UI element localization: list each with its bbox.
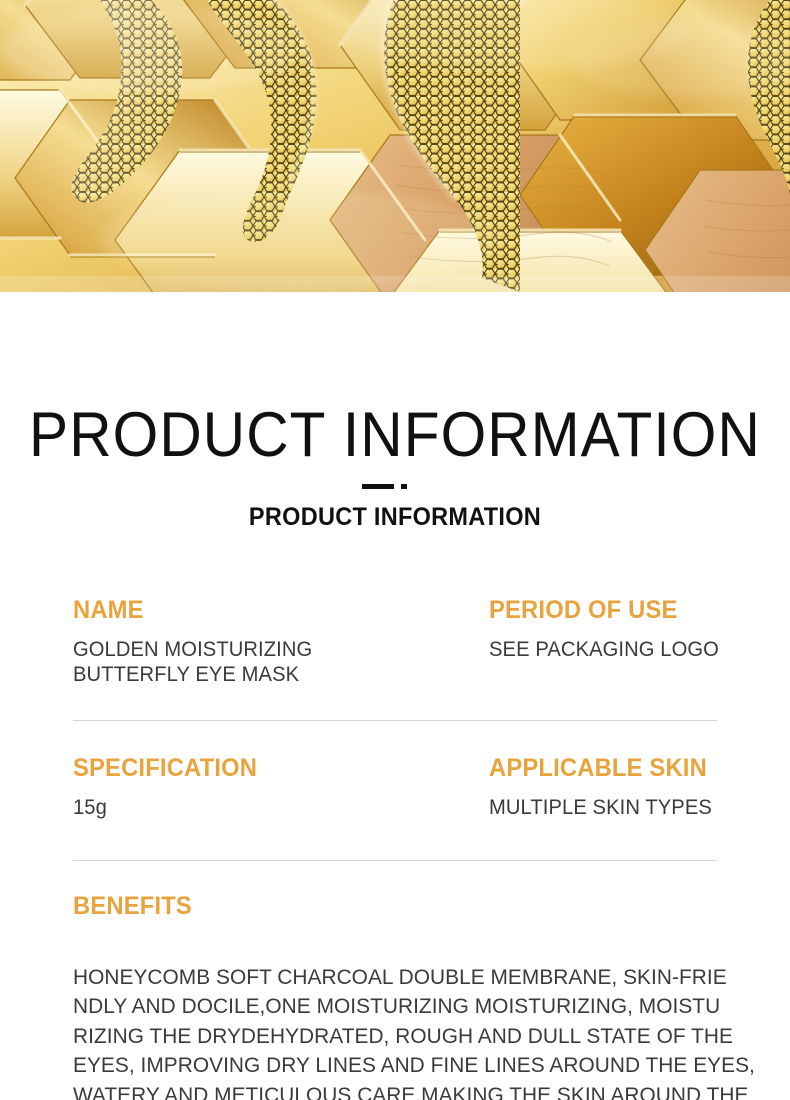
table-row: SPECIFICATION 15g APPLICABLE SKIN MULTIP… [73, 754, 717, 860]
table-row: NAME GOLDEN MOISTURIZING BUTTERFLY EYE M… [73, 596, 717, 720]
benefits-line: HONEYCOMB SOFT CHARCOAL DOUBLE MEMBRANE,… [73, 963, 733, 993]
spec-cell-specification: SPECIFICATION 15g [73, 754, 403, 820]
spec-label-period-of-use: PERIOD OF USE [489, 596, 774, 625]
row-divider [73, 720, 717, 721]
spec-label-specification: SPECIFICATION [73, 754, 387, 783]
row-divider [73, 860, 717, 861]
honeycomb-gold-illustration [0, 0, 790, 292]
hero-product-image [0, 0, 790, 292]
benefits-line: RIZING THE DRYDEHYDRATED, ROUGH AND DULL… [73, 1022, 733, 1052]
spec-label-name: NAME [73, 596, 387, 625]
spec-value-line: MULTIPLE SKIN TYPES [489, 795, 777, 821]
spec-label-benefits: BENEFITS [73, 892, 685, 921]
benefits-line: NDLY AND DOCILE,ONE MOISTURIZING MOISTUR… [73, 992, 733, 1022]
title-block: PRODUCT INFORMATION PRODUCT INFORMATION [0, 292, 790, 532]
spec-label-applicable-skin: APPLICABLE SKIN [489, 754, 774, 783]
page-subtitle: PRODUCT INFORMATION [24, 503, 767, 532]
spec-cell-applicable-skin: APPLICABLE SKIN MULTIPLE SKIN TYPES [489, 754, 789, 820]
divider-dot-icon [401, 484, 407, 489]
product-information-page: PRODUCT INFORMATION PRODUCT INFORMATION … [0, 0, 790, 1100]
benefits-line: EYES, IMPROVING DRY LINES AND FINE LINES… [73, 1051, 733, 1081]
spec-value-period-of-use: SEE PACKAGING LOGO [489, 637, 777, 663]
spec-value-specification: 15g [73, 795, 390, 821]
benefits-line: WATERY AND METICULOUS CARE,MAKING THE SK… [73, 1081, 733, 1100]
spec-value-line: BUTTERFLY EYE MASK [73, 662, 390, 688]
page-title: PRODUCT INFORMATION [28, 404, 763, 467]
spec-value-applicable-skin: MULTIPLE SKIN TYPES [489, 795, 777, 821]
spec-cell-period-of-use: PERIOD OF USE SEE PACKAGING LOGO [489, 596, 789, 662]
benefits-section: BENEFITS HONEYCOMB SOFT CHARCOAL DOUBLE … [73, 892, 717, 1100]
spec-value-name: GOLDEN MOISTURIZING BUTTERFLY EYE MASK [73, 637, 390, 688]
benefits-body-text: HONEYCOMB SOFT CHARCOAL DOUBLE MEMBRANE,… [73, 963, 733, 1100]
divider-bar-icon [362, 484, 394, 489]
spec-value-line: 15g [73, 795, 390, 821]
title-divider [0, 479, 790, 493]
spec-cell-name: NAME GOLDEN MOISTURIZING BUTTERFLY EYE M… [73, 596, 403, 688]
spec-value-line: GOLDEN MOISTURIZING [73, 637, 390, 663]
spec-value-line: SEE PACKAGING LOGO [489, 637, 777, 663]
